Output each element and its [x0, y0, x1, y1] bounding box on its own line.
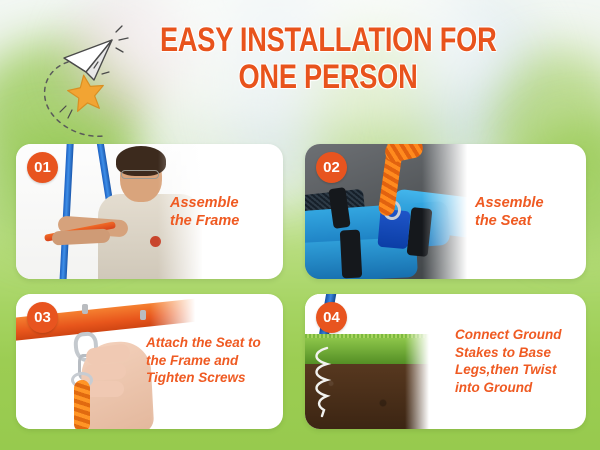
step-caption-2: Assemble the Seat — [475, 194, 544, 230]
ground-stake-spiral-icon — [311, 346, 333, 418]
page-title-line-2: ONE PERSON — [160, 59, 496, 96]
page-title: EASY INSTALLATION FOR ONE PERSON — [160, 22, 496, 96]
orange-rope — [74, 380, 90, 429]
screw — [140, 310, 146, 320]
step-card-1[interactable]: 01 Assemble the Frame — [16, 144, 283, 279]
step-badge-2: 02 — [316, 152, 347, 183]
blue-pole — [59, 144, 74, 279]
velcro-strap — [340, 230, 362, 279]
step-card-2[interactable]: 02 Assemble the Seat — [305, 144, 586, 279]
step-card-3[interactable]: 03 Attach the Seat to the Frame and Tigh… — [16, 294, 283, 429]
step-badge-1: 01 — [27, 152, 58, 183]
photo-fade — [405, 294, 435, 429]
header: EASY INSTALLATION FOR ONE PERSON — [0, 0, 600, 130]
step-caption-1: Assemble the Frame — [170, 194, 239, 230]
photo-fade — [422, 144, 480, 279]
page-title-line-1: EASY INSTALLATION FOR — [160, 21, 496, 59]
step-badge-3: 03 — [27, 302, 58, 333]
step-caption-4: Connect Ground Stakes to Base Legs,then … — [455, 326, 562, 396]
step-badge-4: 04 — [316, 302, 347, 333]
glasses-icon — [121, 170, 159, 179]
screw — [82, 304, 88, 314]
step-caption-3: Attach the Seat to the Frame and Tighten… — [146, 334, 261, 387]
paper-plane-doodle — [24, 22, 134, 137]
step-card-4[interactable]: 04 Connect Ground Stakes to Base Legs,th… — [305, 294, 586, 429]
